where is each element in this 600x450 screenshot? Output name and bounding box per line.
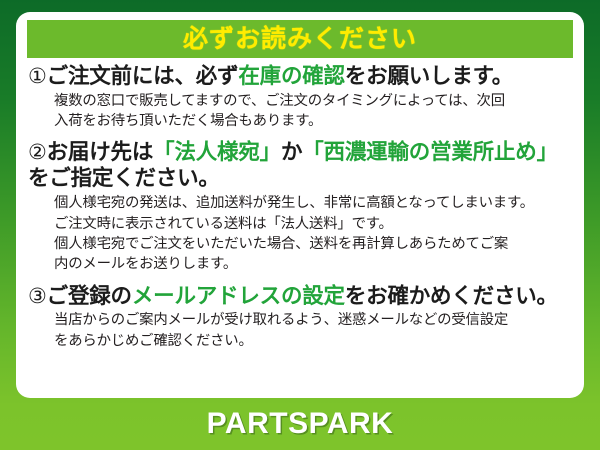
item-2-body: 個人様宅宛の発送は、追加送料が発生し、非常に高額となってしまいます。 ご注文時に… [54, 193, 574, 275]
partspark-logo: PARTSPARK [207, 407, 394, 441]
item-3-heading-highlight: メールアドレスの設定 [132, 284, 345, 308]
item-1-heading-highlight: 在庫の確認 [238, 64, 345, 88]
item-3-heading: ③ご登録のメールアドレスの設定をお確かめください。 [28, 284, 574, 310]
item-2-heading-highlight-2: 「西濃運輸の営業所止め」 [302, 140, 558, 164]
item-1-number: ① [28, 65, 47, 88]
page-title: 必ずお読みください [183, 27, 417, 52]
notice-banner: 必ずお読みください ①ご注文前には、必ず在庫の確認をお願いします。 複数の窓口で… [0, 0, 600, 450]
item-2-body-line: 個人様宅宛でご注文をいただいた場合、送料を再計算しあらためてご案 [54, 234, 574, 254]
list-item: ③ご登録のメールアドレスの設定をお確かめください。 当店からのご案内メールが受け… [28, 284, 574, 351]
item-3-body-line: をあらかじめご確認ください。 [54, 331, 574, 351]
item-2-heading-mid: か [281, 140, 302, 164]
header-strip: 必ずお読みください [27, 20, 573, 58]
item-1-heading-pre: ご注文前には、必ず [47, 64, 239, 88]
item-1-heading: ①ご注文前には、必ず在庫の確認をお願いします。 [28, 64, 574, 90]
item-2-heading-line2: をご指定ください。 [28, 166, 574, 192]
item-3-heading-pre: ご登録の [47, 284, 132, 308]
list-item: ①ご注文前には、必ず在庫の確認をお願いします。 複数の窓口で販売してますので、ご… [28, 64, 574, 131]
item-3-heading-post: をお確かめください。 [345, 284, 558, 308]
item-1-body-line: 複数の窓口で販売してますので、ご注文のタイミングによっては、次回 [54, 91, 574, 111]
item-2-body-line: 個人様宅宛の発送は、追加送料が発生し、非常に高額となってしまいます。 [54, 193, 574, 213]
item-1-heading-post: をお願いします。 [345, 64, 513, 88]
item-3-body: 当店からのご案内メールが受け取れるよう、迷惑メールなどの受信設定 をあらかじめご… [54, 310, 574, 351]
item-1-body: 複数の窓口で販売してますので、ご注文のタイミングによっては、次回 入荷をお待ち頂… [54, 91, 574, 132]
item-2-number: ② [28, 141, 47, 164]
footer: PARTSPARK [0, 398, 600, 450]
list-item: ②お届け先は「法人様宛」か「西濃運輸の営業所止め」 をご指定ください。 個人様宅… [28, 140, 574, 274]
item-2-heading-highlight: 「法人様宛」 [153, 140, 281, 164]
notice-list: ①ご注文前には、必ず在庫の確認をお願いします。 複数の窓口で販売してますので、ご… [28, 64, 574, 355]
item-3-body-line: 当店からのご案内メールが受け取れるよう、迷惑メールなどの受信設定 [54, 310, 574, 330]
item-3-number: ③ [28, 285, 47, 308]
item-1-body-line: 入荷をお待ち頂いただく場合もあります。 [54, 111, 574, 131]
item-2-heading-pre: お届け先は [47, 140, 154, 164]
notice-card: 必ずお読みください ①ご注文前には、必ず在庫の確認をお願いします。 複数の窓口で… [16, 12, 584, 398]
item-2-heading: ②お届け先は「法人様宛」か「西濃運輸の営業所止め」 [28, 140, 574, 166]
item-2-body-line: 内のメールをお送りします。 [54, 254, 574, 274]
item-2-body-line: ご注文時に表示されている送料は「法人送料」です。 [54, 214, 574, 234]
